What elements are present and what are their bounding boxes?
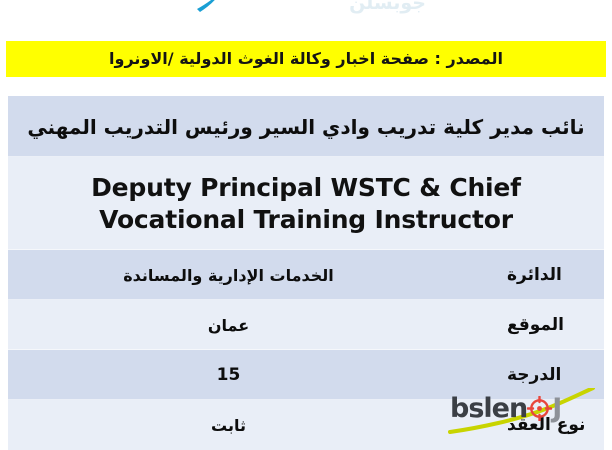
detail-label-location: الموقع [499, 315, 604, 335]
detail-value-department: الخدمات الإدارية والمساندة [8, 266, 499, 285]
job-title-english-row: Deputy Principal WSTC & Chief Vocational… [8, 157, 604, 250]
cutoff-site-logo: جوبسلن [0, 0, 612, 14]
source-banner: المصدر : صفحة اخبار وكالة الغوث الدولية … [6, 41, 606, 77]
detail-value-grade: 15 [8, 365, 499, 385]
logo-wordmark-clip: جوبسلن [186, 0, 426, 14]
detail-label-grade: الدرجة [499, 365, 604, 385]
job-title-arabic-row: نائب مدير كلية تدريب وادي السير ورئيس ال… [8, 96, 604, 157]
logo-swoosh-icon [196, 0, 222, 13]
table-row: الدائرة الخدمات الإدارية والمساندة [8, 250, 604, 300]
table-row: الدرجة 15 [8, 350, 604, 400]
job-title-english: Deputy Principal WSTC & Chief Vocational… [28, 172, 584, 236]
detail-value-location: عمان [8, 316, 499, 335]
job-posting-card: جوبسلن المصدر : صفحة اخبار وكالة الغوث ا… [0, 0, 612, 450]
job-title-arabic: نائب مدير كلية تدريب وادي السير ورئيس ال… [27, 116, 584, 138]
detail-label-contract-type: نوع العقد [499, 415, 604, 435]
source-banner-text: المصدر : صفحة اخبار وكالة الغوث الدولية … [109, 51, 503, 67]
logo-wordmark: جوبسلن [349, 0, 426, 14]
job-details-table: نائب مدير كلية تدريب وادي السير ورئيس ال… [8, 96, 604, 450]
table-row: نوع العقد ثابت [8, 400, 604, 450]
detail-label-department: الدائرة [499, 265, 604, 285]
table-row: الموقع عمان [8, 300, 604, 350]
detail-value-contract-type: ثابت [8, 416, 499, 435]
